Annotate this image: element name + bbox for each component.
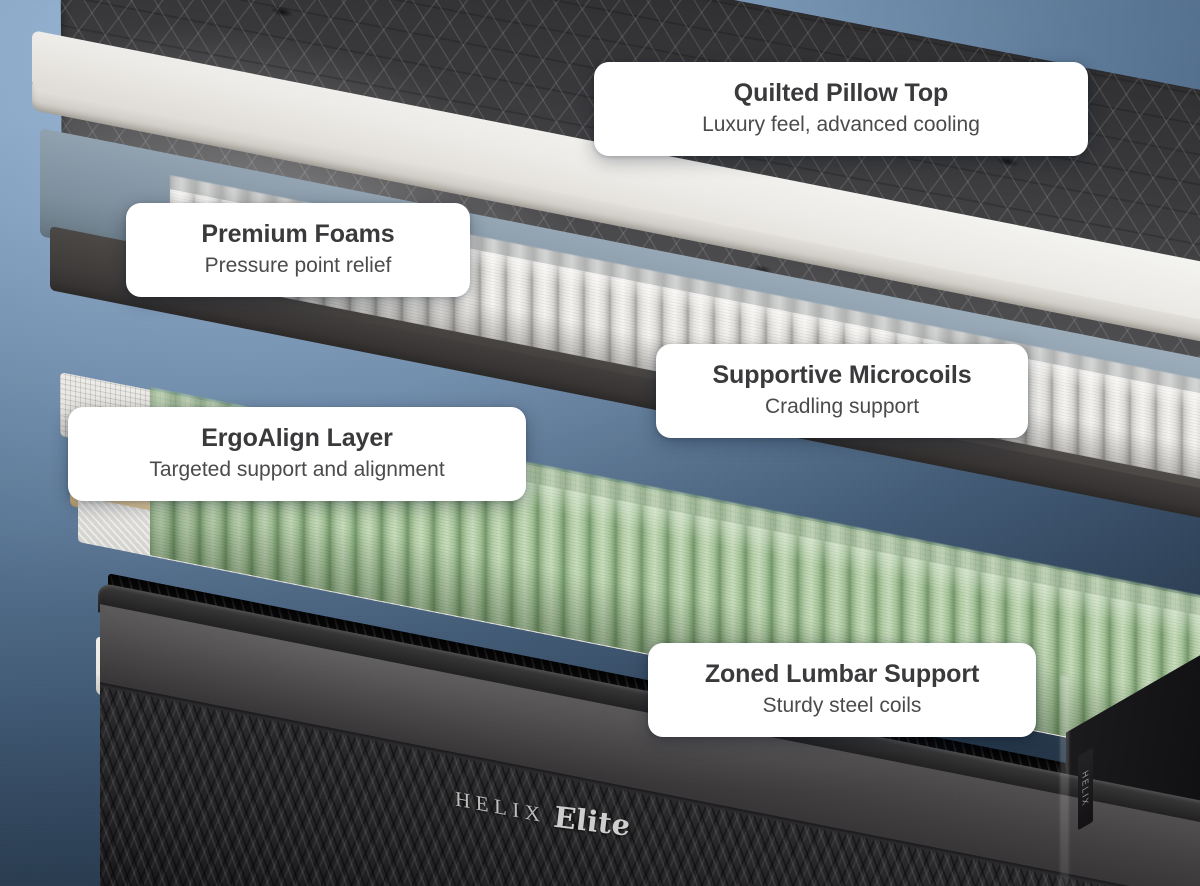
callout-subtitle: Luxury feel, advanced cooling	[624, 112, 1058, 137]
callout-subtitle: Cradling support	[686, 394, 998, 419]
callout-supportive-microcoils[interactable]: Supportive Microcoils Cradling support	[656, 344, 1028, 438]
callout-title: Zoned Lumbar Support	[678, 660, 1006, 689]
callout-ergoalign-layer[interactable]: ErgoAlign Layer Targeted support and ali…	[68, 407, 526, 501]
side-brand-tag: HELIX	[1078, 748, 1093, 831]
mattress-layers-hero: HELIX Elite HELIX Quilted Pillow Top Lux…	[0, 0, 1200, 886]
callout-subtitle: Targeted support and alignment	[98, 457, 496, 482]
callout-title: Quilted Pillow Top	[624, 79, 1058, 108]
callout-quilted-pillow-top[interactable]: Quilted Pillow Top Luxury feel, advanced…	[594, 62, 1088, 156]
callout-title: ErgoAlign Layer	[98, 424, 496, 453]
callout-title: Supportive Microcoils	[686, 361, 998, 390]
foundation-corner-highlight	[1060, 675, 1069, 886]
callout-title: Premium Foams	[156, 220, 440, 249]
side-brand-tag-label: HELIX	[1081, 768, 1091, 809]
callout-subtitle: Sturdy steel coils	[678, 693, 1006, 718]
callout-subtitle: Pressure point relief	[156, 253, 440, 278]
callout-premium-foams[interactable]: Premium Foams Pressure point relief	[126, 203, 470, 297]
callout-zoned-lumbar-support[interactable]: Zoned Lumbar Support Sturdy steel coils	[648, 643, 1036, 737]
